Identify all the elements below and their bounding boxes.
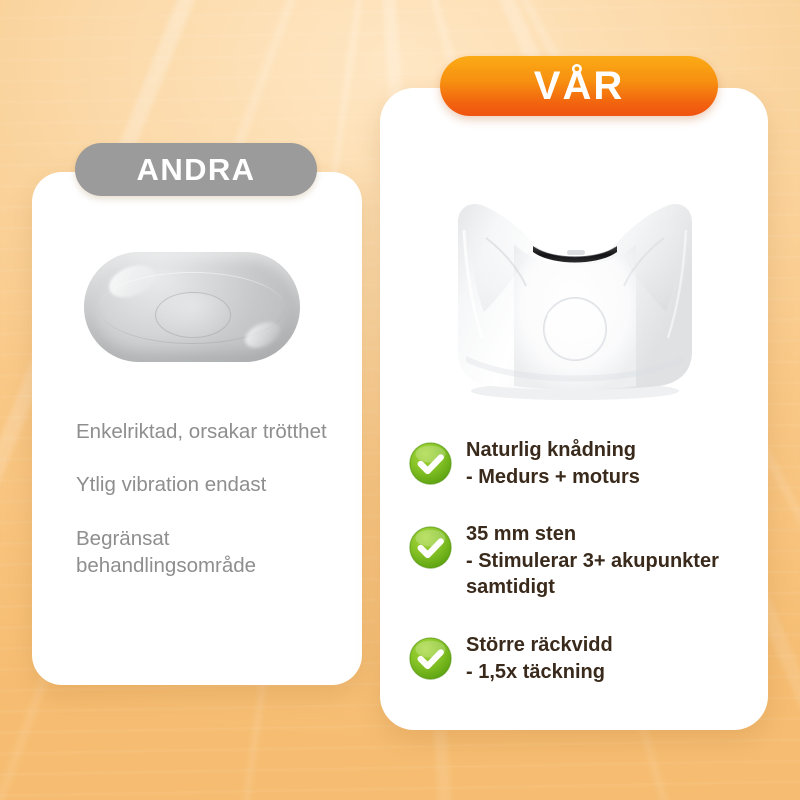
- feature-text: Större räckvidd - 1,5x täckning: [466, 630, 613, 685]
- drawback-item: Enkelriktad, orsakar trötthet: [76, 418, 338, 445]
- competitor-badge: ANDRA: [75, 143, 317, 196]
- gray-pebble-massager-icon: [84, 252, 300, 362]
- feature-detail: - Medurs + moturs: [466, 464, 640, 491]
- our-product-badge: VÅR: [440, 56, 718, 116]
- feature-text: Naturlig knådning - Medurs + moturs: [466, 435, 640, 490]
- feature-detail: - 1,5x täckning: [466, 659, 613, 686]
- feature-title: Större räckvidd: [466, 634, 613, 656]
- feature-item: Naturlig knådning - Medurs + moturs: [408, 435, 760, 490]
- feature-item: 35 mm sten - Stimulerar 3+ akupunkter sa…: [408, 519, 760, 601]
- green-check-icon: [408, 441, 453, 486]
- white-neck-massager-icon: [440, 186, 710, 404]
- feature-text: 35 mm sten - Stimulerar 3+ akupunkter sa…: [466, 519, 760, 601]
- feature-list: Naturlig knådning - Medurs + moturs: [408, 435, 760, 685]
- drawback-item: Begränsat behandlingsområde: [76, 525, 338, 580]
- pebble-center-dish: [155, 292, 230, 338]
- green-check-icon: [408, 636, 453, 681]
- feature-detail: - Stimulerar 3+ akupunkter samtidigt: [466, 548, 760, 601]
- feature-title: Naturlig knådning: [466, 439, 636, 461]
- green-check-icon: [408, 525, 453, 570]
- feature-title: 35 mm sten: [466, 523, 576, 545]
- feature-item: Större räckvidd - 1,5x täckning: [408, 630, 760, 685]
- drawback-list: Enkelriktad, orsakar trötthet Ytlig vibr…: [76, 418, 338, 580]
- drawback-item: Ytlig vibration endast: [76, 471, 338, 498]
